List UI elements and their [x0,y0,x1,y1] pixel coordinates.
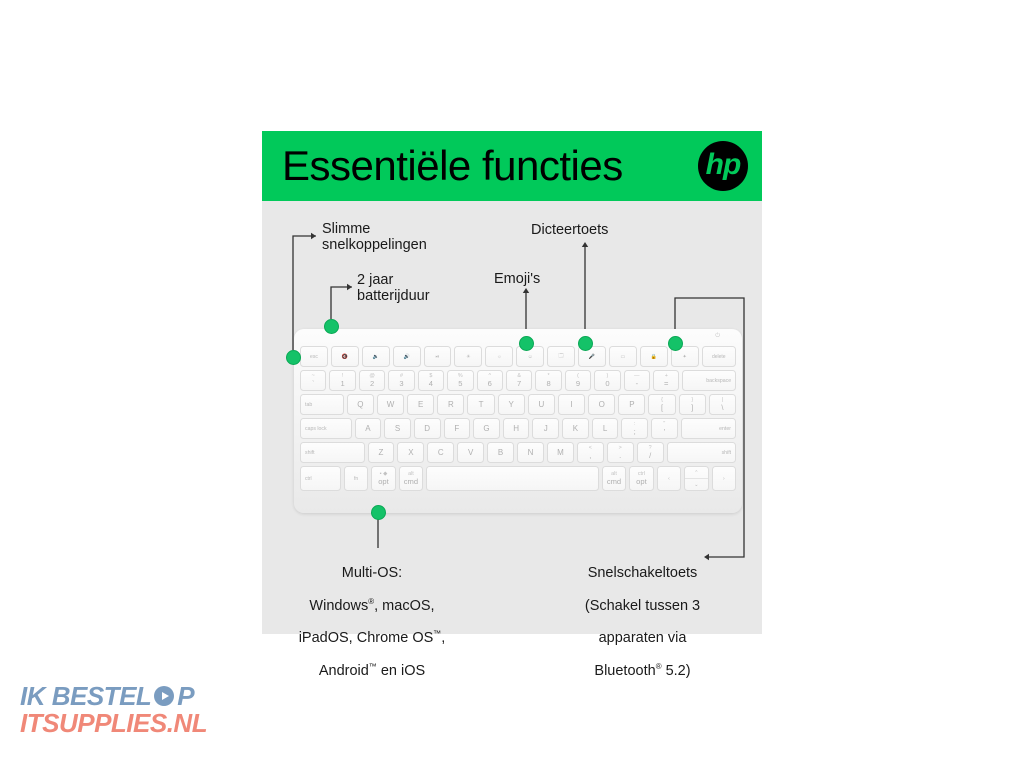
key-delete[interactable]: delete [702,346,736,367]
key-bottom-legend: 0 [605,380,609,388]
key-backtick[interactable]: ~` [300,370,326,391]
key-q[interactable]: Q [347,394,374,415]
key-i[interactable]: I [558,394,585,415]
key-legend: G [483,424,489,433]
key-legend: Q [357,400,363,409]
store-logo-line1: IK BESTEL P [20,683,207,709]
marker-dot-dictation [578,336,593,351]
key-bottom-legend: cmd [404,478,418,486]
key-quote[interactable]: "' [651,418,678,439]
hp-logo-text: hp [706,150,741,180]
key-bottom-legend: ` [312,380,315,388]
key-3[interactable]: #3 [388,370,414,391]
switch-line3: apparaten via [599,630,687,646]
key-bottom-legend: / [649,452,651,460]
key-w[interactable]: W [377,394,404,415]
key-slash[interactable]: ?/ [637,442,664,463]
key-m[interactable]: M [547,442,574,463]
keyboard-illustration: ⏻ esc 🔇 🔉 🔊 ⏯ ☀ ☼ ☺ 🗔 🎤 ▭ 🔒 ✦ delete ~` … [294,329,742,513]
key-8[interactable]: *8 [535,370,561,391]
key-t[interactable]: T [467,394,494,415]
key-period[interactable]: >. [607,442,634,463]
key-shift-left[interactable]: shift [300,442,365,463]
key-legend: H [513,424,519,433]
keyboard-row-home: caps lock A S D F G H J K L :; "' enter [300,418,736,439]
key-legend: O [599,400,605,409]
key-legend: S [395,424,400,433]
keyboard-row-shift: shift Z X C V B N M <, >. ?/ shift [300,442,736,463]
key-lock-icon[interactable]: 🔒 [640,346,668,367]
key-tab[interactable]: tab [300,394,344,415]
key-legend: E [418,400,423,409]
key-windows-command[interactable]: ▪ ◆opt [371,466,395,491]
key-bottom-legend: 5 [458,380,462,388]
key-bottom-legend: cmd [607,478,621,486]
key-d[interactable]: D [414,418,441,439]
key-space[interactable] [426,466,599,491]
key-legend: T [479,400,484,409]
store-logo-line1-tail: P [177,683,194,709]
key-brightness-down-icon[interactable]: ☀ [454,346,482,367]
key-bottom-legend: 7 [517,380,521,388]
key-bottom-legend: 2 [370,380,374,388]
key-legend: K [573,424,578,433]
key-r[interactable]: R [437,394,464,415]
callout-battery-life: 2 jaar batterijduur [357,272,430,304]
key-4[interactable]: $4 [418,370,444,391]
key-bottom-legend: \ [721,404,723,412]
key-bottom-legend: opt [378,478,389,486]
switch-line1: Snelschakeltoets [588,565,698,581]
key-g[interactable]: G [473,418,500,439]
key-e[interactable]: E [407,394,434,415]
key-bottom-legend: ' [664,428,665,436]
key-legend: R [448,400,454,409]
callout-dictation-key: Dicteertoets [531,222,608,238]
key-bracket-left[interactable]: {[ [648,394,675,415]
callout-smart-shortcuts: Slimme snelkoppelingen [322,221,427,253]
key-legend: L [603,424,607,433]
key-bottom-legend: 1 [341,380,345,388]
feature-banner: Essentiële functies hp [262,131,762,201]
key-bottom-legend: 3 [399,380,403,388]
key-legend: D [424,424,430,433]
key-screenshot-icon[interactable]: 🗔 [547,346,575,367]
key-legend: V [468,448,473,457]
key-legend: A [365,424,370,433]
power-button-icon: ⏻ [715,333,720,340]
key-bottom-legend: ; [634,428,636,436]
key-bottom-legend: 4 [429,380,433,388]
key-o[interactable]: O [588,394,615,415]
marker-dot-smart-shortcuts [286,350,301,365]
key-h[interactable]: H [503,418,530,439]
key-bottom-legend: . [619,452,621,460]
key-shift-right[interactable]: shift [667,442,737,463]
switch-line4a: Bluetooth [594,663,655,679]
multios-line1: Multi-OS: [342,565,402,581]
key-bottom-legend: - [636,380,639,388]
key-brightness-up-icon[interactable]: ☼ [485,346,513,367]
multios-line2b: , macOS, [374,598,434,614]
key-arrow-updown[interactable]: ⌃ ⌄ [684,466,708,491]
key-legend: W [387,400,395,409]
key-bottom-legend: , [589,452,591,460]
switch-line4b: 5.2) [662,663,691,679]
keyboard-row-bottom: ctrl fn ▪ ◆opt altcmd altcmd ctrlopt ‹ ⌃… [300,466,736,491]
hp-logo-icon: hp [698,141,748,191]
arrow-down-icon[interactable]: ⌄ [685,479,707,490]
key-legend: Z [379,448,384,457]
key-bottom-legend: 9 [576,380,580,388]
key-legend: J [544,424,548,433]
keyboard-row-numbers: ~` !1 @2 #3 $4 %5 ^6 &7 *8 (9 )0 —- += b… [300,370,736,391]
key-esc[interactable]: esc [300,346,328,367]
key-b[interactable]: B [487,442,514,463]
key-9[interactable]: (9 [565,370,591,391]
key-s[interactable]: S [384,418,411,439]
keyboard-row-qwerty: tab Q W E R T Y U I O P {[ }] |\ [300,394,736,415]
key-legend: Y [509,400,514,409]
key-a[interactable]: A [355,418,382,439]
key-z[interactable]: Z [368,442,395,463]
key-comma[interactable]: <, [577,442,604,463]
store-logo-line1-text: IK BESTEL [20,683,151,709]
key-bottom-legend: ] [691,404,693,412]
key-5[interactable]: %5 [447,370,473,391]
switch-line2: (Schakel tussen 3 [585,598,700,614]
marker-dot-emoji [519,336,534,351]
key-1[interactable]: !1 [329,370,355,391]
key-6[interactable]: ^6 [477,370,503,391]
key-legend: C [438,448,444,457]
key-0[interactable]: )0 [594,370,620,391]
key-backspace[interactable]: backspace [682,370,736,391]
key-p[interactable]: P [618,394,645,415]
key-k[interactable]: K [562,418,589,439]
store-logo: IK BESTEL P ITSUPPLIES.NL [20,683,207,736]
multios-line2a: Windows [309,598,368,614]
key-enter[interactable]: enter [681,418,736,439]
key-legend: U [538,400,544,409]
arrow-up-icon[interactable]: ⌃ [685,467,707,479]
key-legend: P [629,400,634,409]
key-7[interactable]: &7 [506,370,532,391]
banner-title: Essentiële functies [282,145,623,187]
marker-dot-battery [324,319,339,334]
key-bottom-legend: = [664,380,668,388]
key-legend: N [528,448,534,457]
key-bottom-legend: [ [661,404,663,412]
key-legend: B [498,448,503,457]
key-fn[interactable]: fn [344,466,368,491]
key-arrow-left-icon[interactable]: ‹ [657,466,681,491]
key-arrow-right-icon[interactable]: › [712,466,736,491]
key-l[interactable]: L [592,418,619,439]
key-volume-down-icon[interactable]: 🔉 [362,346,390,367]
key-u[interactable]: U [528,394,555,415]
key-ctrl-left[interactable]: ctrl [300,466,341,491]
multios-line4sup: ™ [369,662,377,671]
key-semicolon[interactable]: :; [621,418,648,439]
key-bottom-legend: 8 [546,380,550,388]
callout-switch-key: Snelschakeltoets (Schakel tussen 3 appar… [535,549,750,679]
key-backslash[interactable]: |\ [709,394,736,415]
key-bottom-legend: opt [636,478,647,486]
multios-line4a: Android [319,663,369,679]
marker-dot-multi-os [371,505,386,520]
key-alt-cmd-left[interactable]: altcmd [399,466,423,491]
key-app-switch-icon[interactable]: ▭ [609,346,637,367]
key-legend: M [557,448,564,457]
key-f[interactable]: F [444,418,471,439]
marker-dot-switch-key [668,336,683,351]
key-play-pause-icon[interactable]: ⏯ [424,346,452,367]
play-cursor-icon [154,686,174,706]
key-legend: F [454,424,459,433]
key-x[interactable]: X [397,442,424,463]
key-caps-lock[interactable]: caps lock [300,418,352,439]
key-j[interactable]: J [532,418,559,439]
key-equals[interactable]: += [653,370,679,391]
key-legend: X [408,448,413,457]
key-y[interactable]: Y [498,394,525,415]
key-bottom-legend: 6 [488,380,492,388]
key-v[interactable]: V [457,442,484,463]
key-legend: fn [354,476,358,482]
key-bracket-right[interactable]: }] [679,394,706,415]
multios-line4b: en iOS [377,663,425,679]
key-2[interactable]: @2 [359,370,385,391]
multios-line3a: iPadOS, Chrome OS [299,630,434,646]
key-mute-icon[interactable]: 🔇 [331,346,359,367]
store-logo-line2: ITSUPPLIES.NL [20,710,207,736]
multios-line3b: , [441,630,445,646]
key-c[interactable]: C [427,442,454,463]
key-n[interactable]: N [517,442,544,463]
key-minus[interactable]: —- [624,370,650,391]
key-legend: I [570,400,572,409]
key-volume-up-icon[interactable]: 🔊 [393,346,421,367]
callout-multi-os: Multi-OS: Windows®, macOS, iPadOS, Chrom… [282,549,462,679]
key-ctrl-opt-right[interactable]: ctrlopt [629,466,653,491]
callout-emoji: Emoji's [494,271,540,287]
key-alt-cmd-right[interactable]: altcmd [602,466,626,491]
